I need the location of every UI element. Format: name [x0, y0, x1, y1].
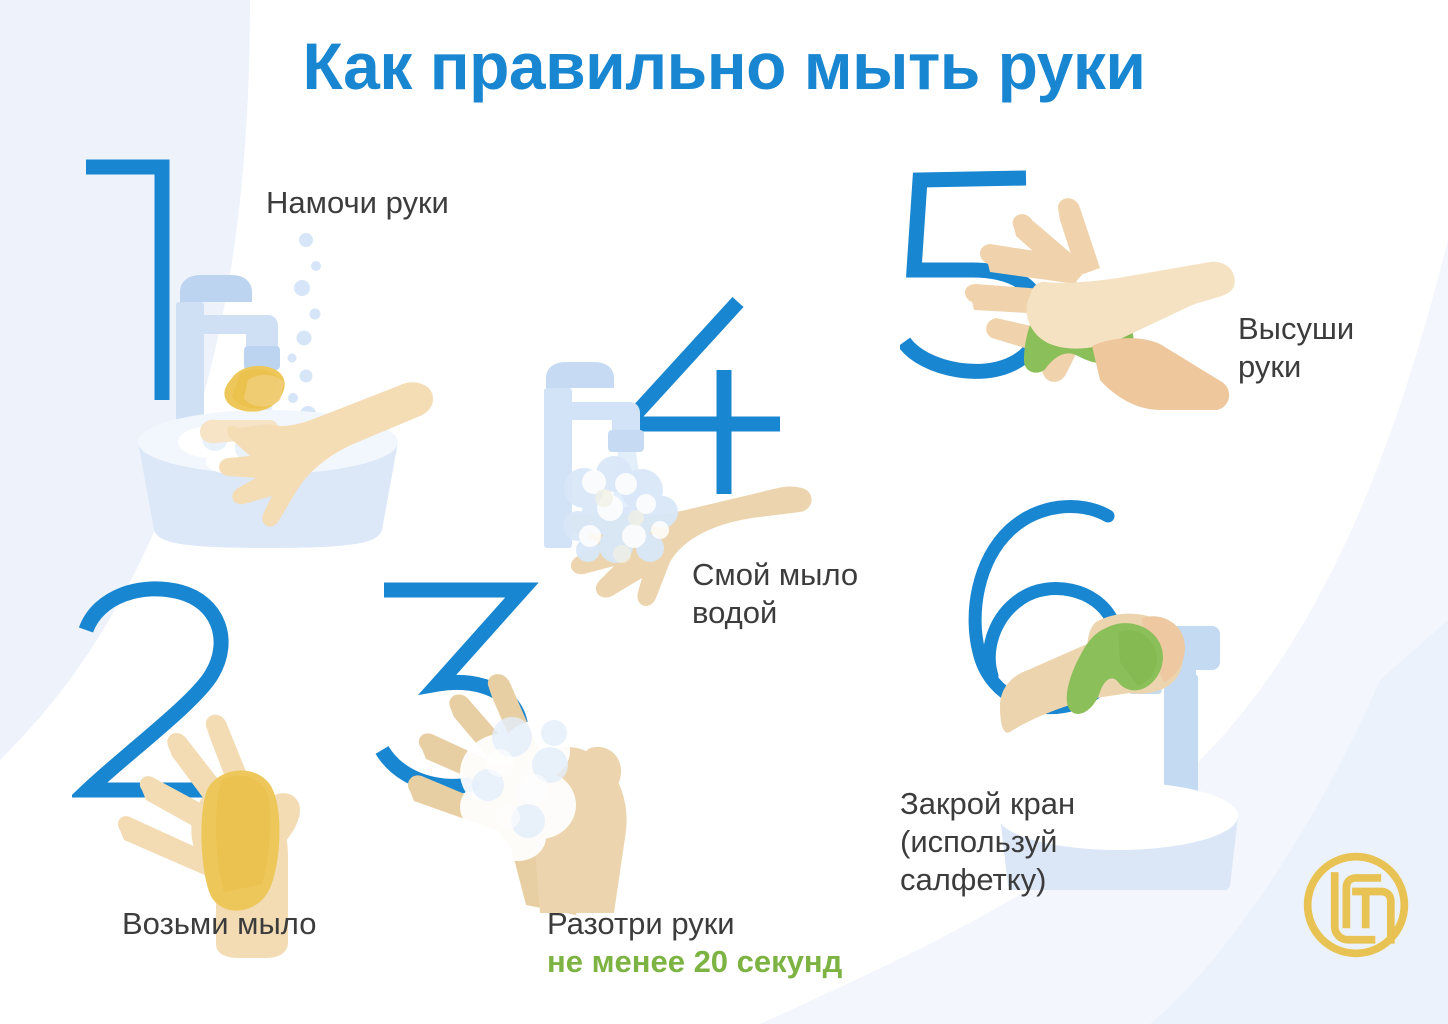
circular-monogram-logo — [1298, 847, 1414, 963]
step-label-5: Высуши руки — [1238, 310, 1354, 386]
step-label-2: Возьми мыло — [122, 905, 316, 943]
step-label-6: Закрой кран (используй салфетку) — [900, 785, 1075, 898]
step-label-3-accent: не менее 20 секунд — [547, 943, 842, 981]
step-label-3: Разотри рукине менее 20 секунд — [547, 905, 842, 981]
sink-with-hands-icon — [120, 230, 450, 550]
step-label-1: Намочи руки — [266, 184, 449, 222]
page-title: Как правильно мыть руки — [0, 28, 1448, 104]
hands-rubbing-foam-icon — [400, 645, 650, 915]
step-label-3-main: Разотри руки — [547, 906, 735, 941]
step-label-4: Смой мыло водой — [692, 556, 858, 632]
infographic-poster: Как правильно мыть руки — [0, 0, 1448, 1024]
hands-with-towel-icon — [942, 192, 1242, 412]
